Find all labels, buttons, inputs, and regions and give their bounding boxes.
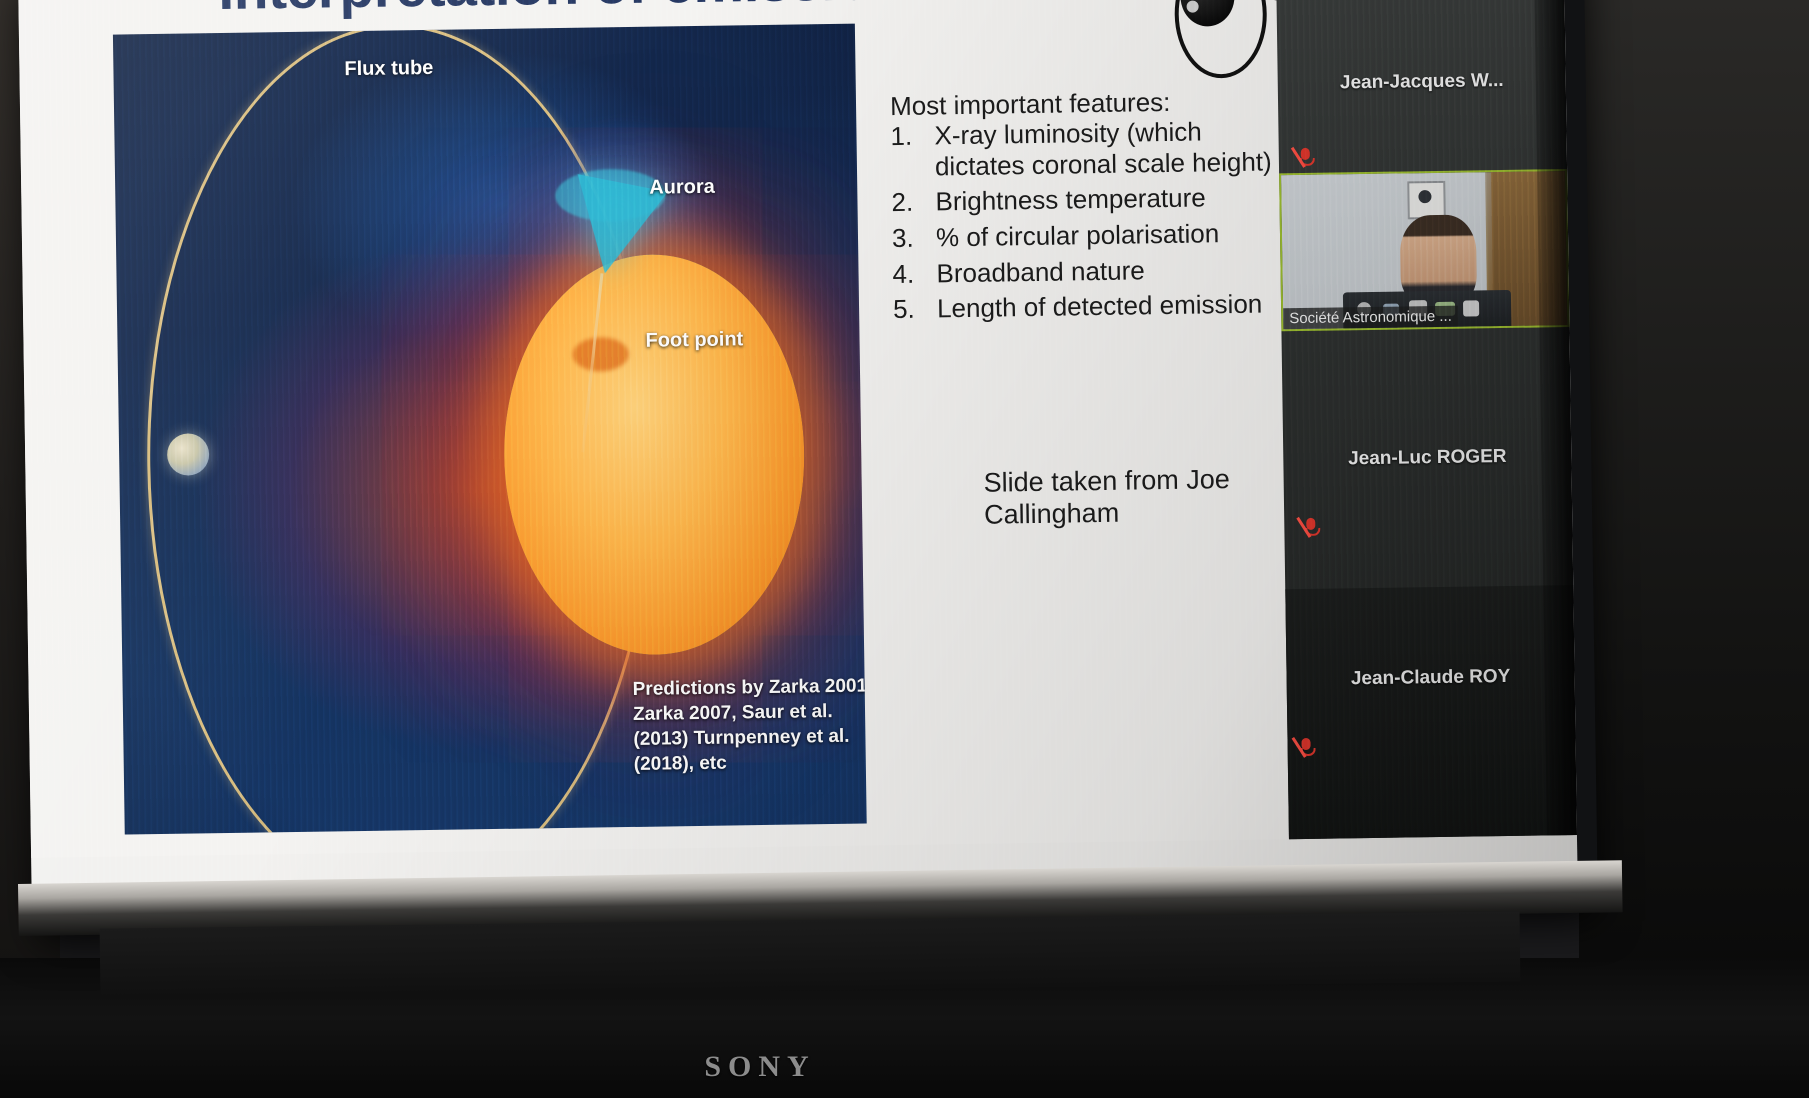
- label-aurora: Aurora: [649, 176, 715, 200]
- monitor-brand-label: SONY: [640, 1050, 880, 1084]
- list-item-label: X-ray luminosity (which dictates coronal…: [934, 115, 1291, 182]
- features-list: 1. X-ray luminosity (which dictates coro…: [890, 115, 1293, 330]
- monitor-screen: Interpretation of emission MINSS Flux tu…: [18, 0, 1577, 886]
- mic-off-icon: [1302, 517, 1320, 537]
- participant-strip: Jean-Jacques W...: [1276, 0, 1577, 839]
- list-item: 1. X-ray luminosity (which dictates coro…: [890, 115, 1291, 182]
- list-item: 4. Broadband nature: [892, 253, 1292, 290]
- participant-name: Jean-Jacques W...: [1278, 69, 1566, 95]
- participant-tile[interactable]: Jean-Luc ROGER: [1281, 327, 1573, 589]
- slide-attribution-note: Slide taken from Joe Callingham: [983, 463, 1284, 531]
- diagram-credit: Predictions by Zarka 2001, Zarka 2007, S…: [632, 673, 866, 777]
- list-item-number: 2.: [891, 187, 935, 218]
- list-item-label: % of circular polarisation: [936, 217, 1292, 253]
- list-item-label: Length of detected emission: [937, 288, 1293, 324]
- list-item-number: 4.: [892, 258, 936, 289]
- label-flux-tube: Flux tube: [344, 57, 433, 81]
- list-item: 3. % of circular polarisation: [892, 217, 1292, 254]
- list-item-number: 5.: [893, 294, 937, 325]
- logo-text-left: MIN: [1230, 0, 1267, 4]
- list-item: 5. Length of detected emission: [893, 288, 1293, 325]
- shared-slide: Interpretation of emission MINSS Flux tu…: [18, 0, 1289, 858]
- list-item-label: Broadband nature: [936, 253, 1292, 289]
- list-item-number: 3.: [892, 222, 936, 253]
- participant-name: Société Astronomique ...: [1283, 306, 1458, 330]
- mic-off-icon: [1297, 147, 1315, 167]
- participant-tile-active[interactable]: Société Astronomique ...: [1279, 169, 1569, 331]
- participant-name: Jean-Claude ROY: [1286, 665, 1574, 691]
- participant-tile[interactable]: Jean-Claude ROY: [1285, 585, 1577, 839]
- mic-off-icon: [1297, 737, 1315, 757]
- list-item-number: 1.: [890, 120, 935, 182]
- label-foot-point: Foot point: [645, 328, 743, 352]
- wall-picture-icon: [1407, 181, 1446, 220]
- emission-diagram: Flux tube Aurora Foot point Predictions …: [113, 24, 867, 835]
- list-item-label: Brightness temperature: [935, 181, 1291, 217]
- participant-name: Jean-Luc ROGER: [1283, 445, 1571, 471]
- photo-scene: Interpretation of emission MINSS Flux tu…: [0, 0, 1809, 1098]
- list-item: 2. Brightness temperature: [891, 181, 1291, 218]
- participant-tile[interactable]: Jean-Jacques W...: [1276, 0, 1567, 173]
- room-background-right: [1579, 0, 1809, 1098]
- page-title: Interpretation of emission: [218, 0, 1119, 23]
